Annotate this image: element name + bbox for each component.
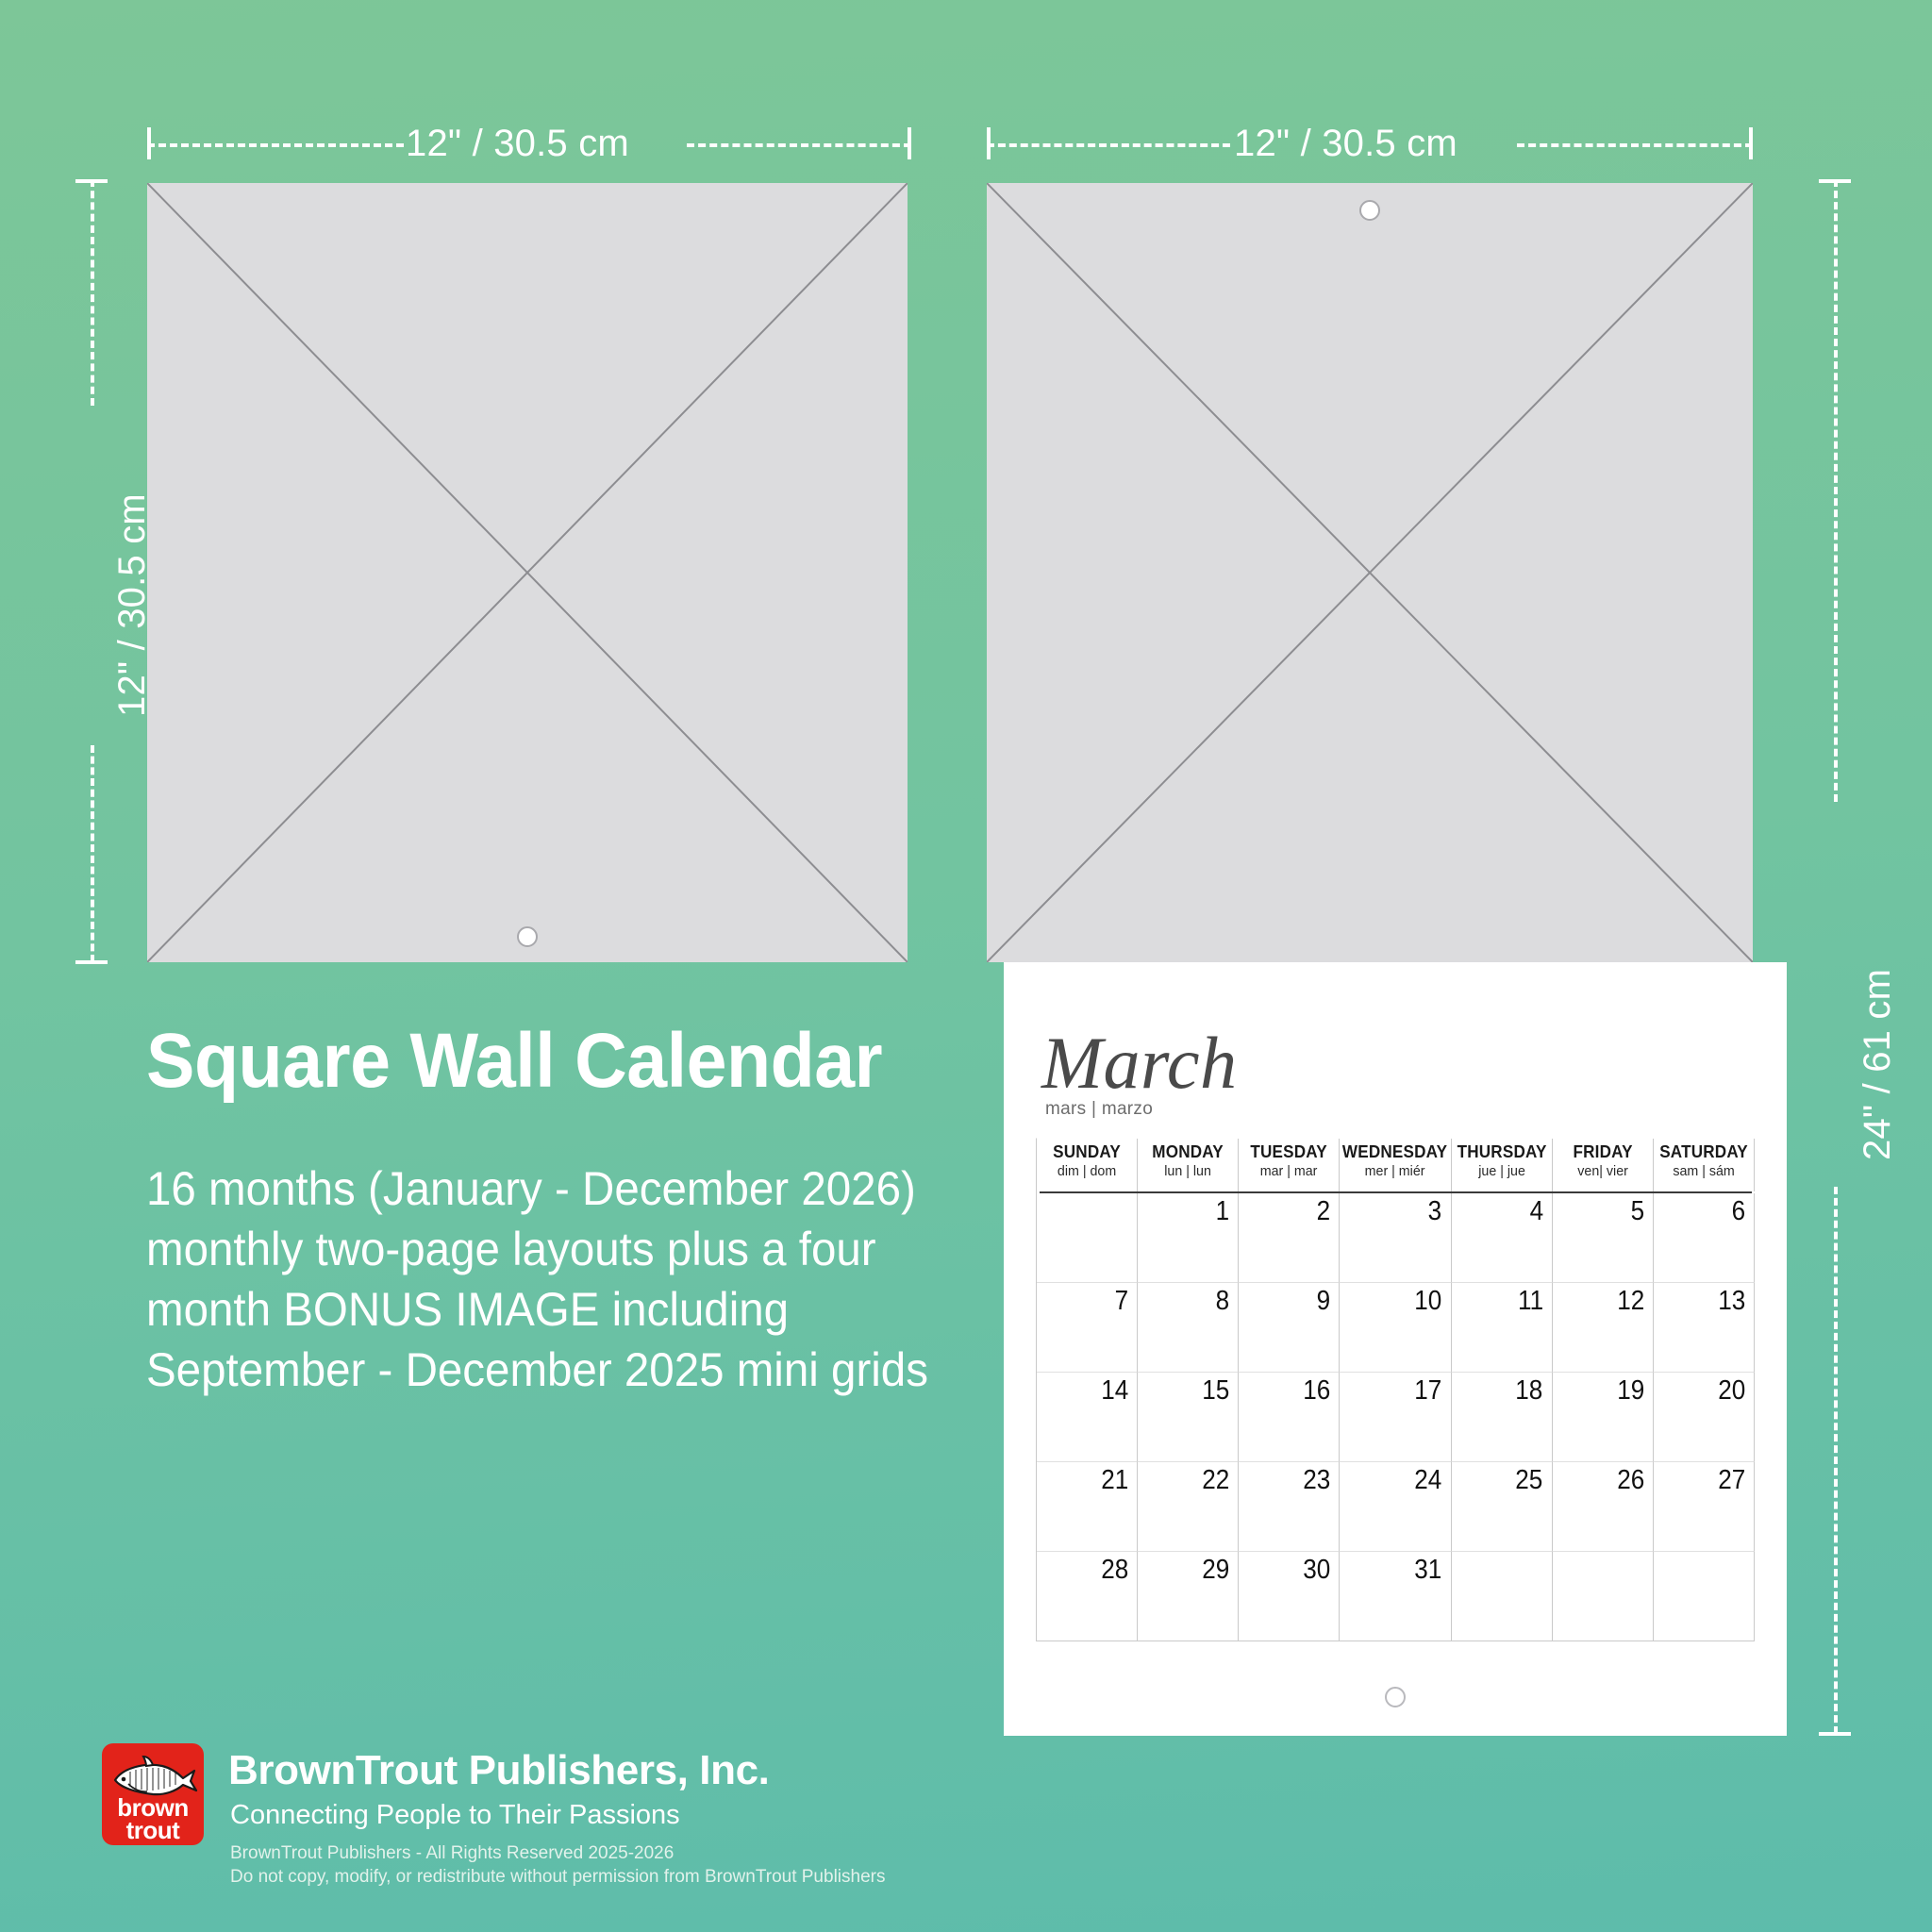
calendar-day-number: 25 (1516, 1465, 1543, 1496)
calendar-day-cell[interactable]: 19 (1553, 1373, 1654, 1462)
legal-line-1: BrownTrout Publishers - All Rights Reser… (230, 1841, 674, 1865)
calendar-day-cell[interactable] (1553, 1552, 1654, 1641)
calendar-day-number: 19 (1617, 1375, 1644, 1407)
calendar-day-cell[interactable] (1452, 1552, 1553, 1641)
weekday-name-alt: dim | dom (1040, 1163, 1135, 1179)
dim-cap-bottom-left-height (75, 960, 108, 964)
calendar-day-number: 31 (1415, 1555, 1442, 1586)
dim-label-top-left: 12" / 30.5 cm (406, 123, 629, 165)
calendar-month-title: March (1041, 1021, 1238, 1106)
calendar-day-number: 7 (1115, 1286, 1129, 1317)
weekday-name-en: THURSDAY (1454, 1142, 1549, 1162)
calendar-day-number: 18 (1516, 1375, 1543, 1407)
calendar-day-number: 1 (1216, 1196, 1230, 1227)
weekday-name-alt: lun | lun (1141, 1163, 1236, 1179)
calendar-day-cell[interactable]: 12 (1553, 1283, 1654, 1373)
calendar-day-number: 12 (1617, 1286, 1644, 1317)
calendar-day-cell[interactable]: 13 (1654, 1283, 1755, 1373)
legal-line-2: Do not copy, modify, or redistribute wit… (230, 1865, 885, 1889)
calendar-day-cell[interactable]: 23 (1239, 1462, 1340, 1552)
image-placeholder-diagonal-icon (987, 183, 1753, 962)
calendar-weekday-header: FRIDAYven| vier (1553, 1139, 1654, 1191)
weekday-name-en: FRIDAY (1555, 1142, 1650, 1162)
calendar-day-number: 27 (1718, 1465, 1745, 1496)
calendar-day-number: 26 (1617, 1465, 1644, 1496)
calendar-day-cell[interactable]: 7 (1037, 1283, 1138, 1373)
image-placeholder-right (987, 183, 1753, 962)
dim-rule-top-left-a (147, 143, 404, 147)
brand-tagline: Connecting People to Their Passions (230, 1800, 680, 1831)
calendar-day-cell[interactable]: 4 (1452, 1193, 1553, 1283)
calendar-weekday-header: MONDAYlun | lun (1138, 1139, 1239, 1191)
calendar-day-cell[interactable]: 9 (1239, 1283, 1340, 1373)
calendar-day-cell[interactable]: 6 (1654, 1193, 1755, 1283)
calendar-weekday-header: SATURDAYsam | sám (1654, 1139, 1755, 1191)
calendar-day-number: 11 (1518, 1286, 1543, 1317)
calendar-day-cell[interactable]: 16 (1239, 1373, 1340, 1462)
dim-cap-bottom-right-height (1819, 1732, 1851, 1736)
calendar-day-number: 17 (1415, 1375, 1442, 1407)
image-placeholder-diagonal-icon (147, 183, 908, 962)
calendar-day-number: 6 (1731, 1196, 1745, 1227)
calendar-day-cell[interactable]: 10 (1340, 1283, 1451, 1373)
hole-punch-icon (1385, 1687, 1406, 1707)
dim-rule-left-height-b (91, 745, 94, 962)
calendar-day-cell[interactable]: 21 (1037, 1462, 1138, 1552)
calendar-day-cell[interactable]: 18 (1452, 1373, 1553, 1462)
calendar-day-cell[interactable]: 15 (1138, 1373, 1239, 1462)
description-line: September - December 2025 mini grids (146, 1340, 935, 1400)
calendar-month-translations: mars | marzo (1045, 1099, 1153, 1120)
dim-cap-right-top-left (908, 127, 911, 159)
calendar-day-number: 5 (1630, 1196, 1644, 1227)
weekday-name-en: MONDAY (1141, 1142, 1236, 1162)
calendar-day-number: 29 (1202, 1555, 1229, 1586)
calendar-day-number: 20 (1718, 1375, 1745, 1407)
hole-punch-icon (1359, 200, 1380, 221)
brand-name: BrownTrout Publishers, Inc. (228, 1747, 770, 1794)
calendar-day-number: 21 (1101, 1465, 1128, 1496)
calendar-day-number: 24 (1415, 1465, 1442, 1496)
product-description: 16 months (January - December 2026)month… (146, 1158, 935, 1400)
calendar-day-number: 30 (1303, 1555, 1330, 1586)
calendar-weekday-header: THURSDAYjue | jue (1452, 1139, 1553, 1191)
calendar-day-cell[interactable]: 29 (1138, 1552, 1239, 1641)
weekday-name-en: SUNDAY (1040, 1142, 1135, 1162)
calendar-day-cell[interactable]: 1 (1138, 1193, 1239, 1283)
calendar-day-number: 16 (1303, 1375, 1330, 1407)
calendar-day-number: 3 (1428, 1196, 1442, 1227)
calendar-day-cell[interactable]: 8 (1138, 1283, 1239, 1373)
dim-rule-top-right-a (987, 143, 1230, 147)
calendar-day-number: 2 (1317, 1196, 1331, 1227)
dim-rule-right-height-b (1834, 1187, 1838, 1734)
calendar-weekday-header: TUESDAYmar | mar (1239, 1139, 1340, 1191)
calendar-day-cell[interactable]: 25 (1452, 1462, 1553, 1552)
description-line: 16 months (January - December 2026) (146, 1158, 935, 1219)
calendar-day-cell[interactable]: 30 (1239, 1552, 1340, 1641)
calendar-day-number: 9 (1317, 1286, 1331, 1317)
product-spec-sheet: 12" / 30.5 cm 12" / 30.5 cm 12" / 30.5 c… (0, 0, 1932, 1932)
calendar-weekday-header: WEDNESDAYmer | miér (1340, 1139, 1451, 1191)
calendar-day-number: 14 (1101, 1375, 1128, 1407)
dim-label-top-right: 12" / 30.5 cm (1234, 123, 1457, 165)
calendar-day-number: 10 (1415, 1286, 1442, 1317)
weekday-name-alt: jue | jue (1454, 1163, 1549, 1179)
calendar-day-cell[interactable]: 11 (1452, 1283, 1553, 1373)
calendar-day-cell[interactable]: 2 (1239, 1193, 1340, 1283)
logo-word-trout: trout (102, 1819, 204, 1842)
calendar-weekday-header: SUNDAYdim | dom (1037, 1139, 1138, 1191)
calendar-day-cell[interactable]: 27 (1654, 1462, 1755, 1552)
weekday-name-alt: sam | sám (1657, 1163, 1752, 1179)
calendar-day-number: 23 (1303, 1465, 1330, 1496)
weekday-name-en: SATURDAY (1657, 1142, 1752, 1162)
hole-punch-icon (517, 926, 538, 947)
weekday-name-en: WEDNESDAY (1342, 1142, 1447, 1162)
dim-rule-top-right-b (1517, 143, 1753, 147)
browntrout-logo: brown trout (102, 1743, 204, 1845)
calendar-day-number: 22 (1202, 1465, 1229, 1496)
page-title: Square Wall Calendar (146, 1017, 882, 1106)
calendar-day-number: 4 (1529, 1196, 1543, 1227)
dim-label-right-height: 24" / 61 cm (1857, 969, 1899, 1160)
calendar-day-cell[interactable]: 3 (1340, 1193, 1451, 1283)
calendar-grid: SUNDAYdim | domMONDAYlun | lunTUESDAYmar… (1036, 1138, 1755, 1641)
calendar-day-number: 15 (1202, 1375, 1229, 1407)
calendar-day-cell[interactable]: 17 (1340, 1373, 1451, 1462)
calendar-day-cell[interactable]: 24 (1340, 1462, 1451, 1552)
calendar-day-number: 13 (1718, 1286, 1745, 1317)
calendar-day-cell[interactable]: 26 (1553, 1462, 1654, 1552)
dim-cap-right-top-right (1749, 127, 1753, 159)
calendar-day-cell[interactable]: 5 (1553, 1193, 1654, 1283)
dim-rule-right-height-a (1834, 179, 1838, 802)
weekday-name-alt: ven| vier (1555, 1163, 1650, 1179)
weekday-name-en: TUESDAY (1241, 1142, 1337, 1162)
calendar-day-cell[interactable]: 20 (1654, 1373, 1755, 1462)
weekday-name-alt: mar | mar (1241, 1163, 1337, 1179)
calendar-day-cell[interactable]: 28 (1037, 1552, 1138, 1641)
image-placeholder-left (147, 183, 908, 962)
calendar-day-number: 8 (1216, 1286, 1230, 1317)
description-line: monthly two-page layouts plus a four (146, 1219, 935, 1279)
calendar-day-number: 28 (1101, 1555, 1128, 1586)
calendar-day-cell[interactable]: 31 (1340, 1552, 1451, 1641)
dim-rule-top-left-b (687, 143, 911, 147)
calendar-day-cell[interactable]: 14 (1037, 1373, 1138, 1462)
description-line: month BONUS IMAGE including (146, 1279, 935, 1340)
calendar-day-cell[interactable] (1037, 1193, 1138, 1283)
calendar-day-cell[interactable] (1654, 1552, 1755, 1641)
calendar-sheet: March mars | marzo SUNDAYdim | domMONDAY… (1004, 962, 1787, 1736)
dim-rule-left-height-a (91, 179, 94, 406)
calendar-day-cell[interactable]: 22 (1138, 1462, 1239, 1552)
weekday-name-alt: mer | miér (1342, 1163, 1447, 1179)
